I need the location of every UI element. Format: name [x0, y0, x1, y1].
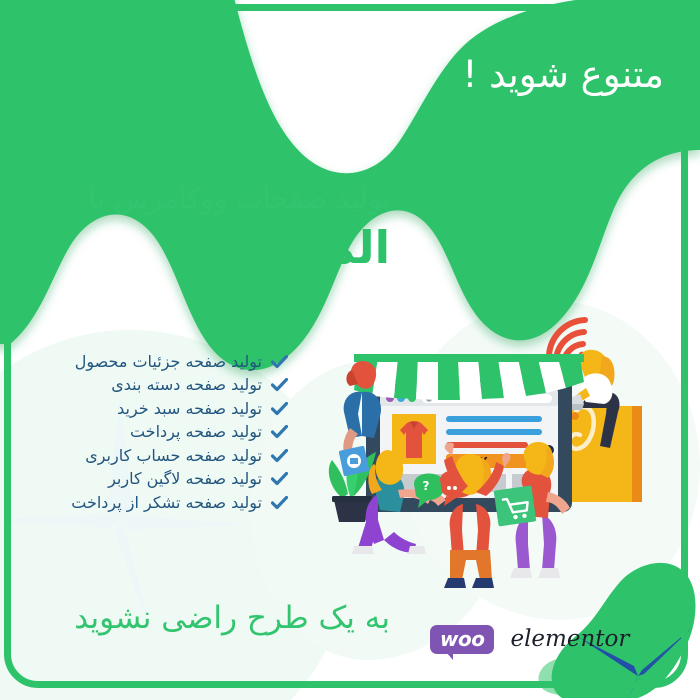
bottom-slogan: به یک طرح راضی نشوید [74, 600, 390, 637]
check-icon [266, 402, 292, 416]
list-item-label: تولید صفحه لاگین کاربر [108, 471, 262, 487]
top-slogan: متنوع شوید ! [462, 52, 664, 98]
check-icon [266, 425, 292, 439]
elementor-logo: elementor [510, 628, 629, 651]
logo-row: woo elementor [430, 625, 629, 654]
list-item-label: تولید صفحه سبد خرید [117, 401, 262, 417]
check-icon [266, 355, 292, 369]
check-icon [266, 378, 292, 392]
list-item-label: تولید صفحه جزئیات محصول [75, 354, 262, 370]
ecommerce-illustration: BUY [318, 298, 700, 598]
check-icon [266, 472, 292, 486]
woocommerce-label: woo [440, 629, 484, 649]
check-icon [266, 449, 292, 463]
heading-line-2: المنتـــور [89, 220, 390, 276]
list-item-label: تولید صفحه تشکر از پرداخت [71, 495, 262, 511]
feature-list: تولید صفحه جزئیات محصول تولید صفحه دسته … [71, 350, 292, 515]
list-item-label: تولید صفحه دسته بندی [111, 377, 262, 393]
list-item: تولید صفحه پرداخت [71, 421, 292, 445]
check-icon [266, 496, 292, 510]
poster-canvas: متنوع شوید ! تولید صفحات ووکامرس با المن… [0, 0, 700, 700]
list-item-label: تولید صفحه حساب کاربری [85, 448, 262, 464]
list-item-label: تولید صفحه پرداخت [130, 424, 262, 440]
list-item: تولید صفحه لاگین کاربر [71, 468, 292, 492]
list-item: تولید صفحه تشکر از پرداخت [71, 491, 292, 515]
list-item: تولید صفحه جزئیات محصول [71, 350, 292, 374]
list-item: تولید صفحه دسته بندی [71, 374, 292, 398]
heading-line-1: تولید صفحات ووکامرس با [89, 180, 390, 218]
woocommerce-logo: woo [430, 625, 494, 654]
list-item: تولید صفحه سبد خرید [71, 397, 292, 421]
speech-question-mark: ? [423, 479, 430, 493]
list-item: تولید صفحه حساب کاربری [71, 444, 292, 468]
heading-block: تولید صفحات ووکامرس با المنتـــور [89, 180, 390, 276]
